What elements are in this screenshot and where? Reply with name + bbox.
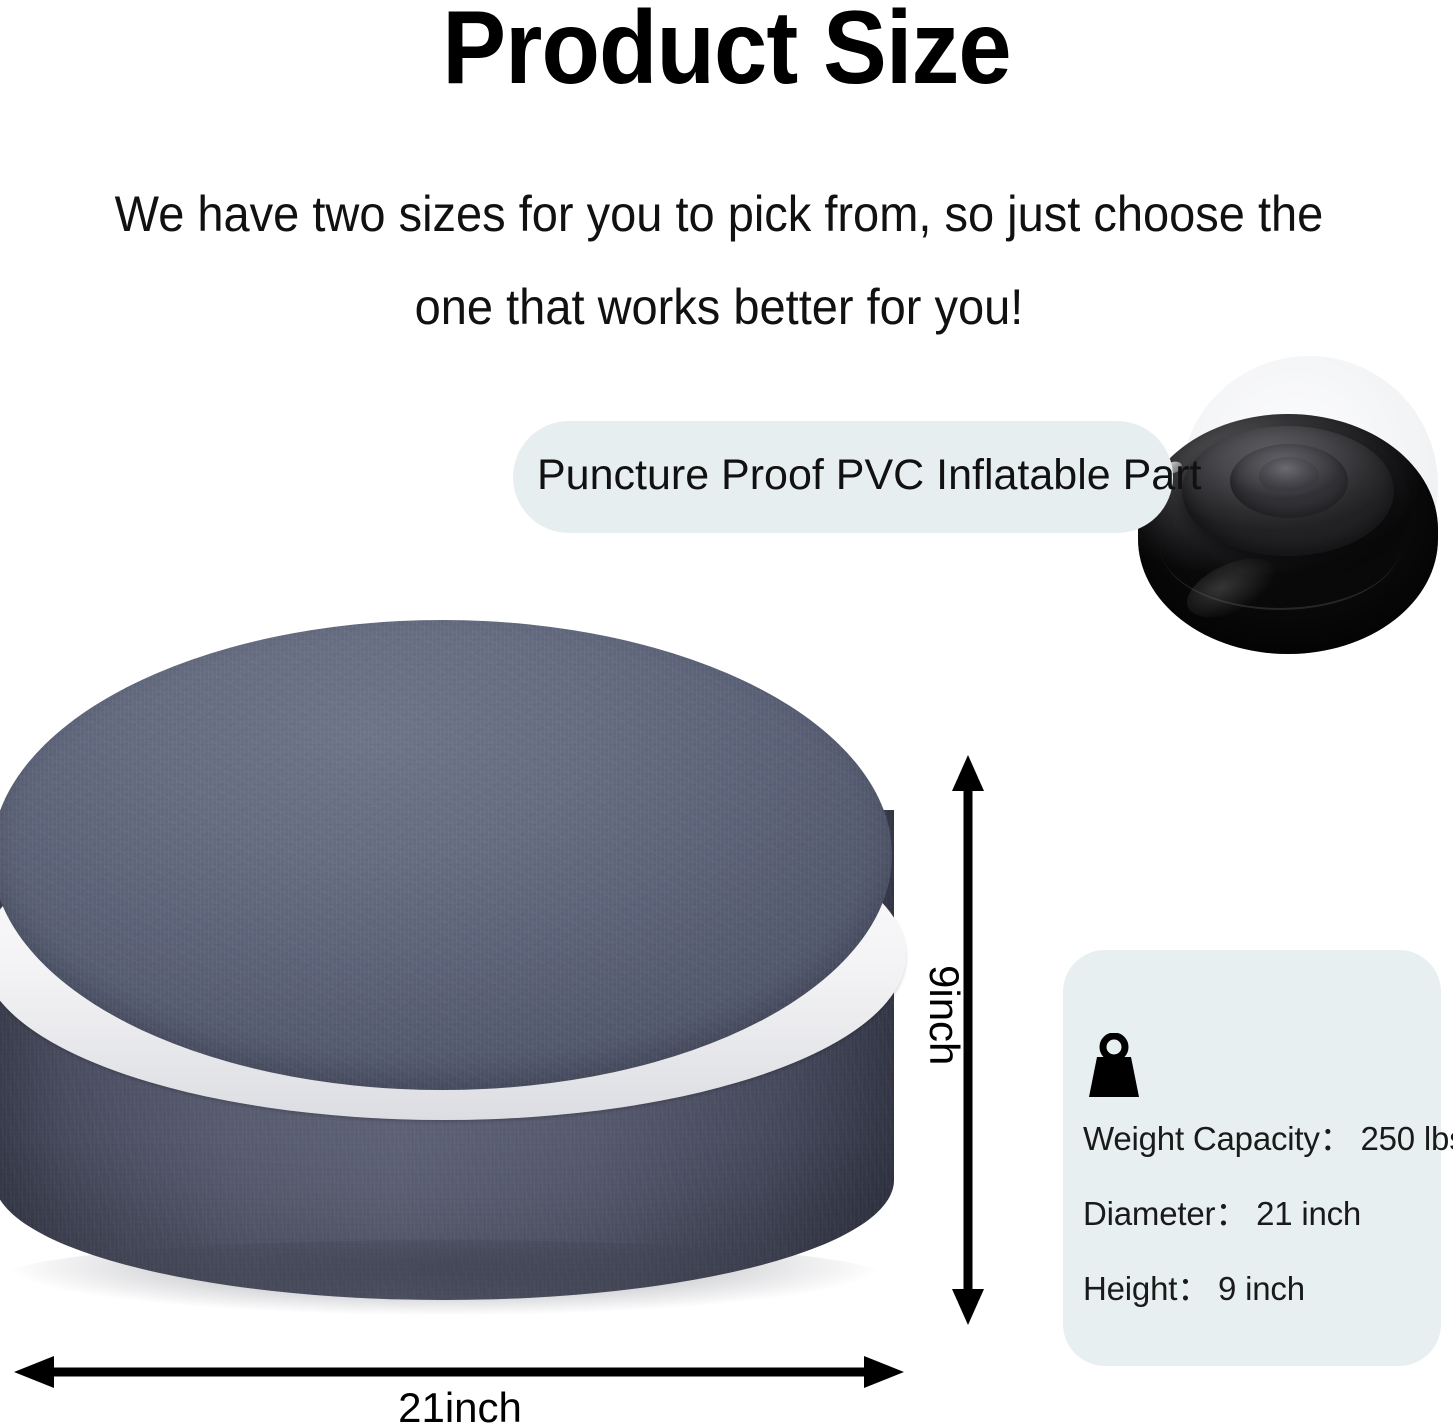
pvc-callout-pill: Puncture Proof PVC Inflatable Part — [513, 421, 1173, 533]
subtitle-line-1: We have two sizes for you to pick from, … — [56, 168, 1381, 261]
product-size-infographic: Product Size We have two sizes for you t… — [0, 0, 1453, 1426]
weight-icon — [1083, 1033, 1145, 1099]
spec-label: Weight Capacity： — [1083, 1120, 1352, 1157]
spec-list: Weight Capacity：250 lbs Diameter：21 inch… — [1083, 1122, 1443, 1305]
bladder-gloss-highlight — [1178, 547, 1285, 630]
weight-icon-glyph — [1083, 1033, 1145, 1099]
subtitle-line-2: one that works better for you! — [56, 261, 1381, 354]
width-dimension-label: 21inch — [0, 1384, 920, 1426]
spec-row-height: Height：9 inch — [1083, 1272, 1443, 1305]
subtitle-block: We have two sizes for you to pick from, … — [56, 168, 1381, 353]
ottoman-base-shadow — [0, 1240, 888, 1316]
spec-row-diameter: Diameter：21 inch — [1083, 1197, 1443, 1230]
ottoman-top-surface — [0, 620, 892, 1090]
spec-label: Height： — [1083, 1270, 1210, 1307]
bladder-ring-inner — [1259, 457, 1319, 495]
height-dimension-label: 9inch — [920, 965, 968, 1065]
spec-label: Diameter： — [1083, 1195, 1248, 1232]
page-title: Product Size — [58, 0, 1395, 100]
pvc-callout-label: Puncture Proof PVC Inflatable Part — [537, 451, 1157, 500]
spec-value: 9 inch — [1218, 1270, 1305, 1307]
ottoman-top-fabric-texture — [0, 620, 892, 1090]
spec-value: 250 lbs — [1360, 1120, 1453, 1157]
spec-value: 21 inch — [1256, 1195, 1361, 1232]
ottoman-product-image — [0, 620, 924, 1320]
inflatable-bladder-image — [1118, 356, 1453, 656]
spec-row-weight-capacity: Weight Capacity：250 lbs — [1083, 1122, 1443, 1155]
